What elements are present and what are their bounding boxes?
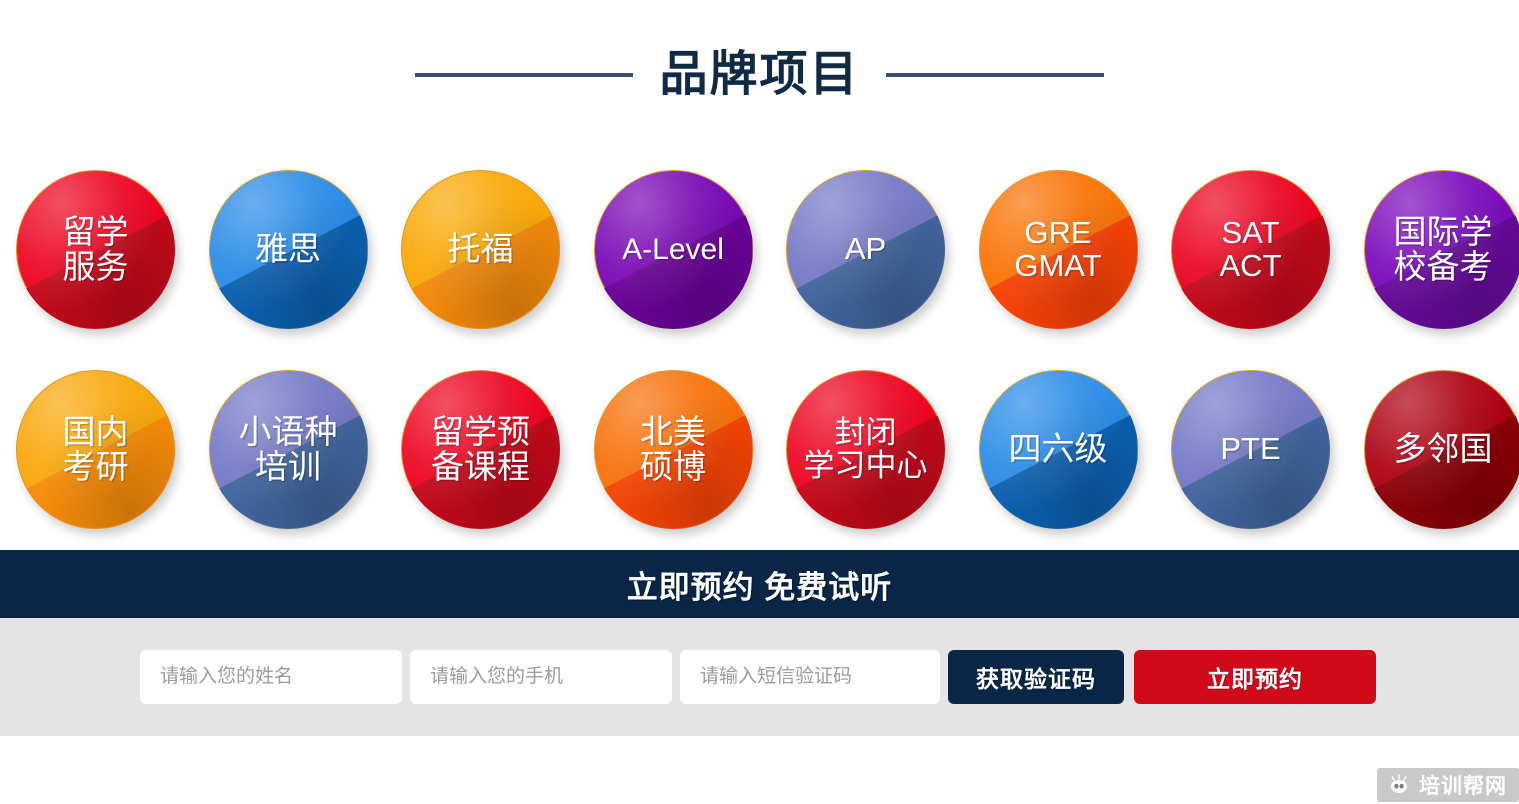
- divider-left: [415, 73, 633, 77]
- brand-row-2: 国内 考研小语种 培训留学预 备课程北美 硕博封闭 学习中心四六级PTE多邻国: [8, 350, 1519, 550]
- brand-circle[interactable]: 托福: [401, 170, 560, 329]
- divider-right: [886, 73, 1104, 77]
- get-verification-code-button[interactable]: 获取验证码: [948, 650, 1124, 704]
- brand-circle[interactable]: 多邻国: [1364, 370, 1519, 529]
- brand-circle-label: A-Level: [620, 234, 726, 265]
- brand-program-grid: 留学 服务雅思托福A-LevelAPGRE GMATSAT ACT国际学 校备考…: [0, 150, 1519, 550]
- watermark-text: 培训帮网: [1419, 770, 1507, 800]
- brand-circle-label: 四六级: [1007, 432, 1110, 466]
- brand-circle[interactable]: 北美 硕博: [594, 370, 753, 529]
- brand-circle-label: 留学 服务: [61, 215, 131, 284]
- brand-circle[interactable]: 小语种 培训: [209, 370, 368, 529]
- watermark: 培训帮网: [1377, 768, 1519, 802]
- banner-title: 立即预约 免费试听: [627, 562, 893, 607]
- brand-row-1: 留学 服务雅思托福A-LevelAPGRE GMATSAT ACT国际学 校备考: [8, 150, 1519, 350]
- brand-circle-label: 托福: [446, 232, 516, 266]
- brand-circle[interactable]: 国际学 校备考: [1364, 170, 1519, 329]
- brand-circle-label: 多邻国: [1392, 432, 1495, 466]
- brand-circle[interactable]: 留学 服务: [16, 170, 175, 329]
- brand-circle[interactable]: PTE: [1171, 370, 1330, 529]
- brand-circle[interactable]: SAT ACT: [1171, 170, 1330, 329]
- phone-input[interactable]: [410, 650, 672, 704]
- appointment-banner: 立即预约 免费试听: [0, 550, 1519, 618]
- brand-circle-label: 小语种 培训: [237, 415, 340, 484]
- brand-circle[interactable]: 四六级: [979, 370, 1138, 529]
- brand-circle[interactable]: 封闭 学习中心: [786, 370, 945, 529]
- brand-circle[interactable]: A-Level: [594, 170, 753, 329]
- brand-circle-label: 雅思: [253, 232, 323, 266]
- name-input[interactable]: [140, 650, 402, 704]
- brand-circle-label: 留学预 备课程: [429, 415, 532, 484]
- page-title: 品牌项目: [659, 51, 859, 99]
- brand-circle[interactable]: 留学预 备课程: [401, 370, 560, 529]
- brand-circle[interactable]: 国内 考研: [16, 370, 175, 529]
- section-header: 品牌项目: [0, 0, 1519, 150]
- brand-circle[interactable]: 雅思: [209, 170, 368, 329]
- brand-circle-label: 北美 硕博: [638, 415, 708, 484]
- sms-code-input[interactable]: [680, 650, 940, 704]
- brand-circle-label: 国内 考研: [61, 415, 131, 484]
- sun-eye-icon: [1387, 773, 1411, 797]
- brand-circle-label: 封闭 学习中心: [802, 417, 930, 481]
- brand-circle[interactable]: GRE GMAT: [979, 170, 1138, 329]
- appointment-form: 获取验证码 立即预约: [0, 618, 1519, 736]
- submit-appointment-button[interactable]: 立即预约: [1134, 650, 1376, 704]
- brand-circle-label: GRE GMAT: [1012, 217, 1103, 281]
- brand-circle-label: SAT ACT: [1218, 217, 1284, 281]
- brand-circle[interactable]: AP: [786, 170, 945, 329]
- brand-circle-label: PTE: [1218, 433, 1282, 465]
- brand-circle-label: AP: [843, 233, 888, 265]
- brand-circle-label: 国际学 校备考: [1392, 215, 1495, 284]
